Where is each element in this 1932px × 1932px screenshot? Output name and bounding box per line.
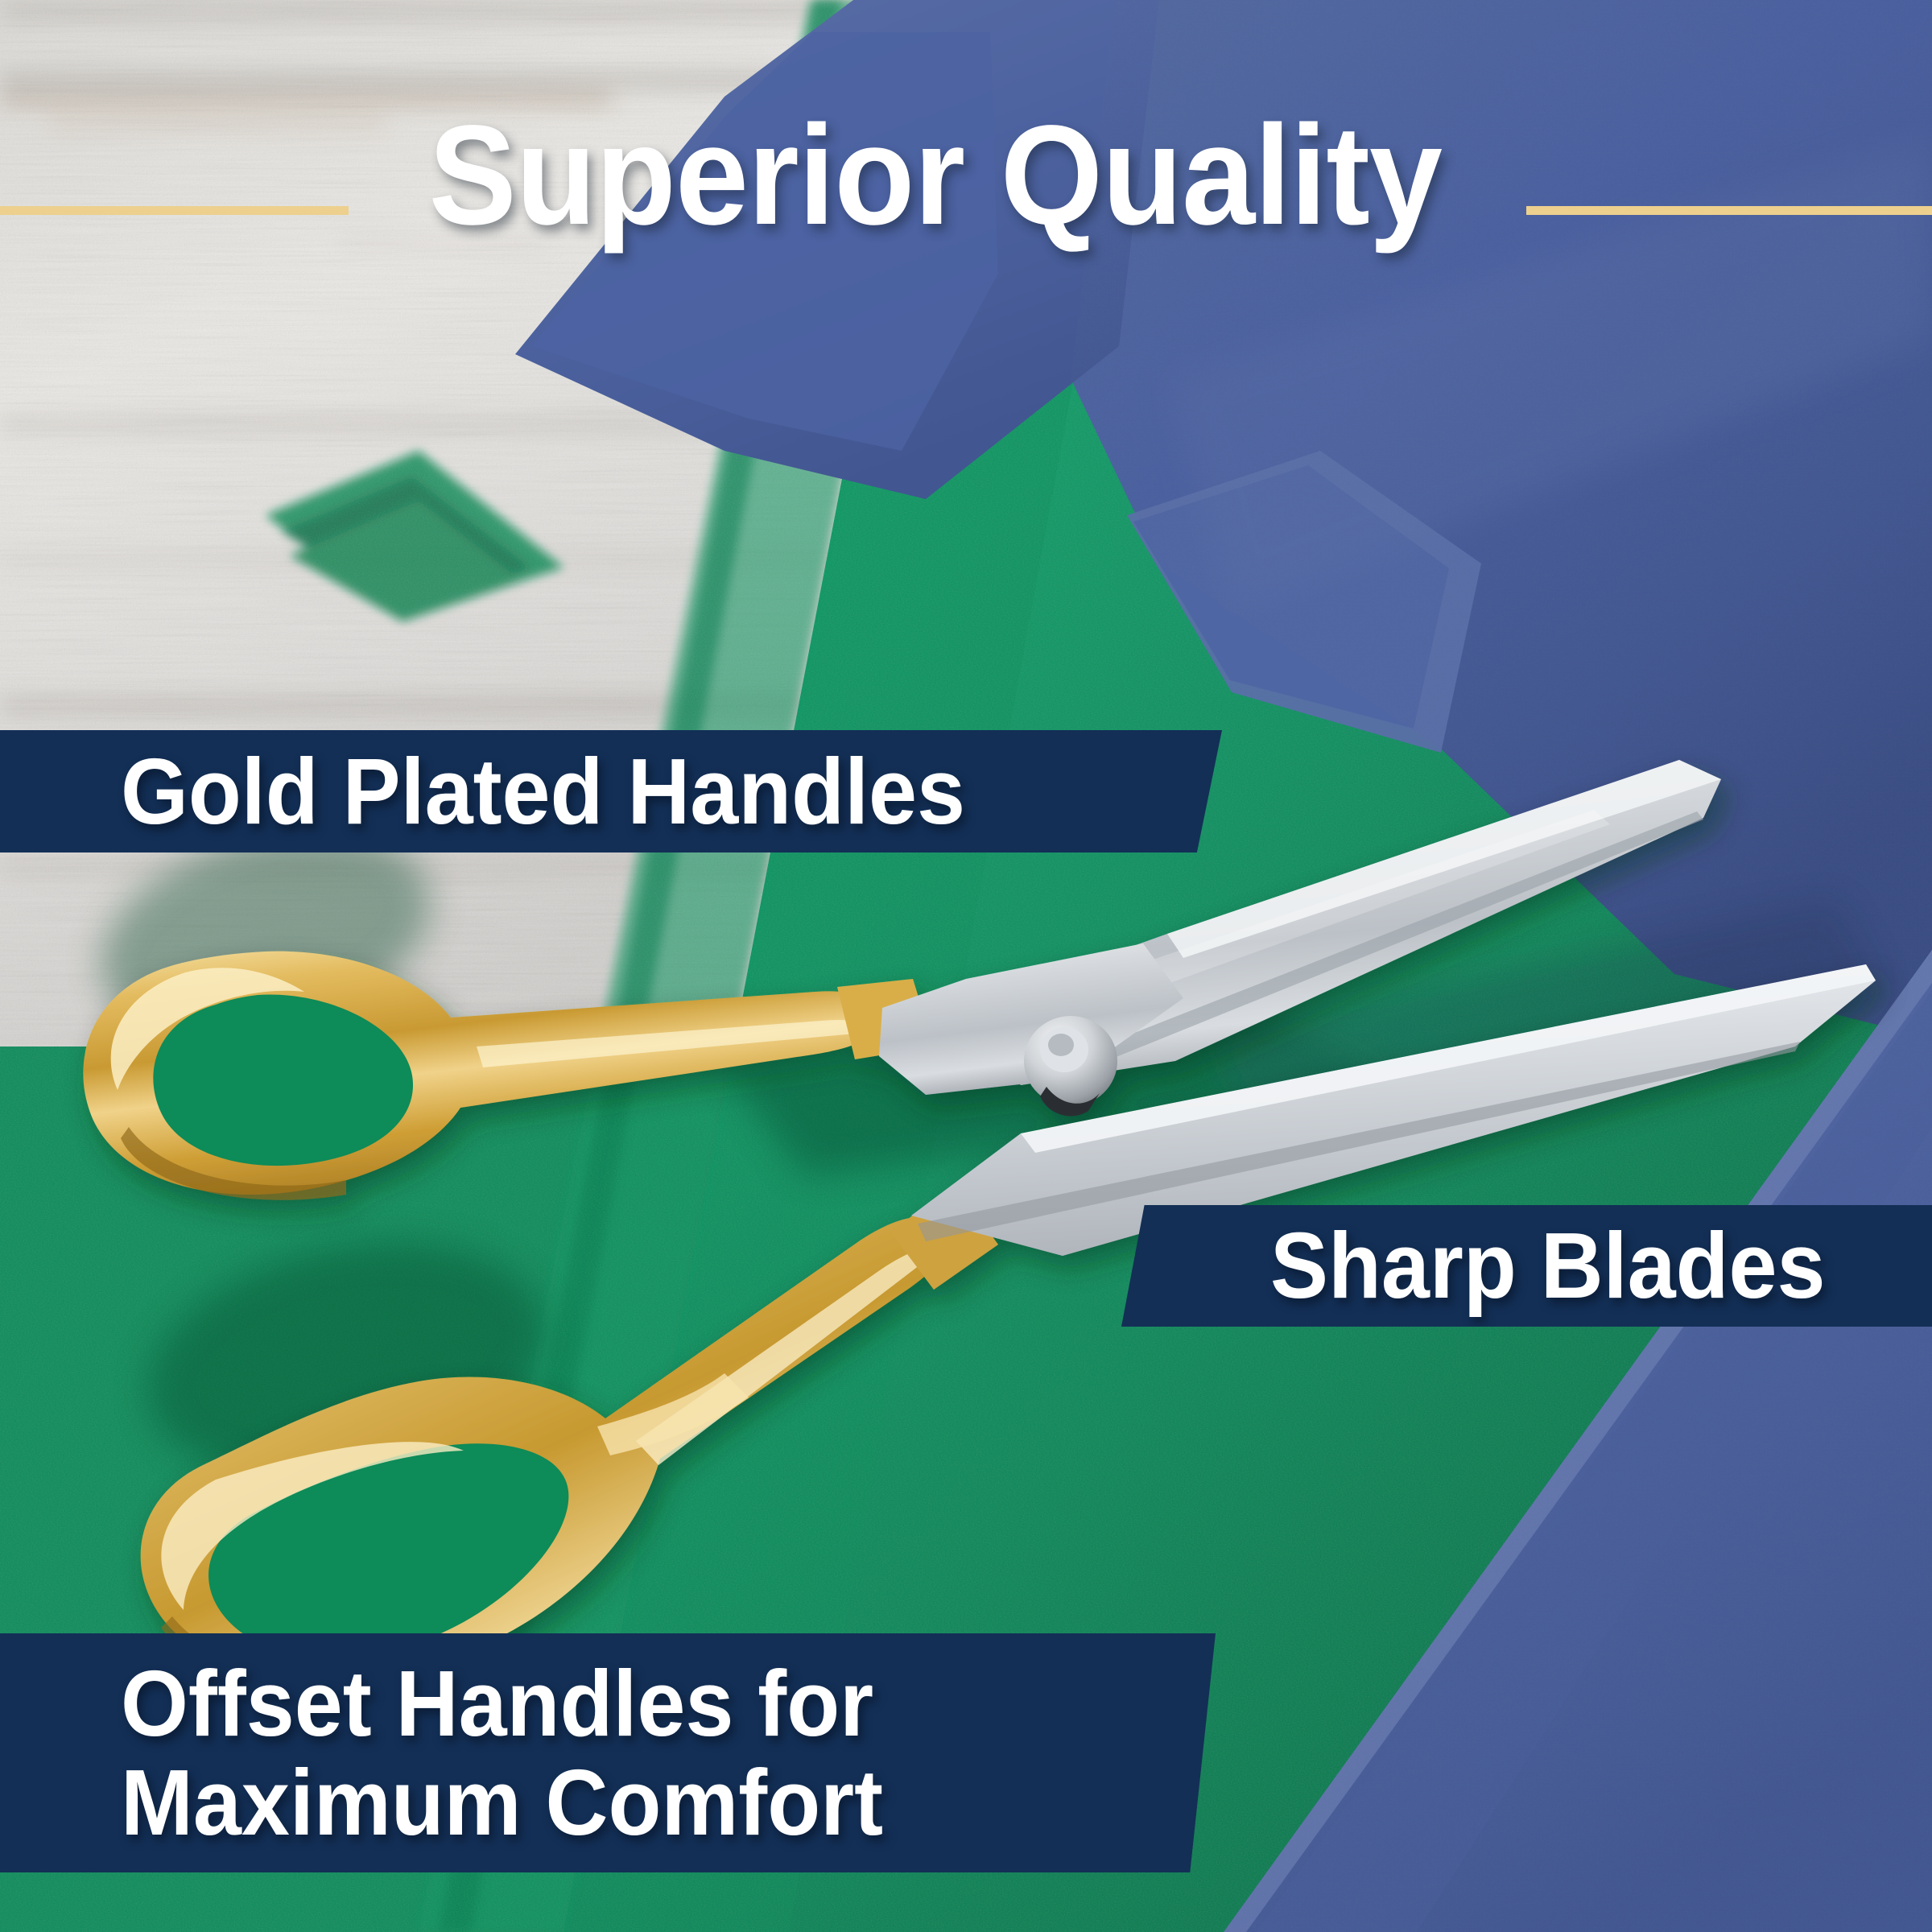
- gold-rule-right: [1526, 206, 1932, 215]
- header-title-row: Superior Quality: [0, 95, 1932, 256]
- feature-banner-sharp-blades: Sharp Blades: [1121, 1205, 1932, 1327]
- feature-banner-label: Offset Handles for Maximum Comfort: [121, 1654, 883, 1852]
- product-feature-image: Superior Quality Gold Plated Handles Sha…: [0, 0, 1932, 1932]
- feature-banner-offset-handles: Offset Handles for Maximum Comfort: [0, 1633, 1216, 1872]
- gold-rule-left: [0, 206, 349, 215]
- feature-banner-gold-plated-handles: Gold Plated Handles: [0, 730, 1222, 852]
- page-title: Superior Quality: [390, 105, 1485, 246]
- feature-banner-label: Gold Plated Handles: [121, 742, 965, 841]
- feature-banner-label: Sharp Blades: [1270, 1216, 1825, 1315]
